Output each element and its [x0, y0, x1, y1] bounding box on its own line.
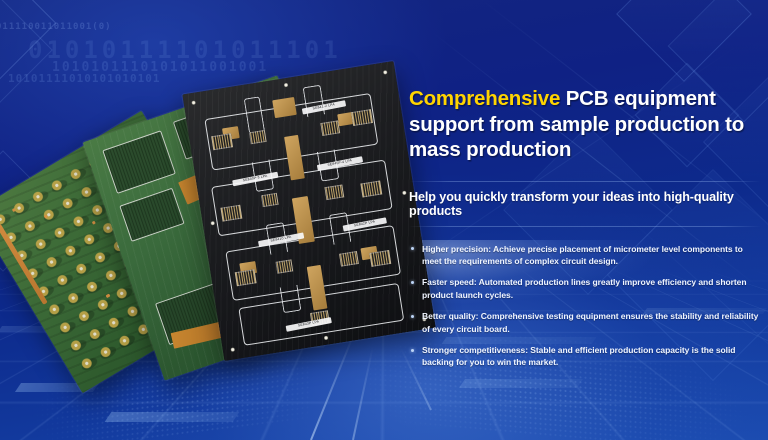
module-outline [119, 188, 184, 242]
list-item: Stronger competitiveness: Stable and eff… [409, 344, 761, 369]
light-bar [105, 412, 240, 422]
integrated-circuit [249, 130, 267, 144]
pcb-board-black-front: SE841-2 LPA SE840P-3 LPA SE845P-4 LPA SE… [182, 61, 436, 361]
copper-pad [272, 97, 297, 118]
diamond-shape-icon [616, 0, 752, 82]
module-outline [102, 130, 176, 194]
integrated-circuit [339, 251, 359, 267]
page-title: Comprehensive PCB equipment support from… [409, 86, 761, 163]
integrated-circuit [320, 120, 340, 136]
via-hole [324, 336, 329, 341]
via-hole [284, 83, 289, 88]
integrated-circuit [276, 259, 294, 273]
list-item: Higher precision: Achieve precise placem… [409, 243, 761, 268]
benefits-list: Higher precision: Achieve precise placem… [409, 243, 761, 369]
integrated-circuit [261, 193, 279, 207]
via-hole [402, 191, 407, 196]
copy-block: Comprehensive PCB equipment support from… [409, 86, 761, 378]
integrated-circuit [324, 184, 344, 200]
subheadline: Help you quickly transform your ideas in… [409, 182, 761, 226]
binary-text-line-1: 011110011011001(0) [0, 22, 112, 32]
via-hole [383, 70, 388, 75]
divider-bottom [409, 226, 761, 227]
light-bar [459, 379, 583, 388]
via-hole [210, 221, 215, 226]
via-hole [230, 347, 235, 352]
rf-trace-outline [280, 285, 302, 313]
via-hole [191, 100, 196, 105]
list-item: Better quality: Comprehensive testing eq… [409, 310, 761, 335]
list-item: Faster speed: Automated production lines… [409, 276, 761, 301]
promo-banner: 011110011011001(0) 01010111101011101 101… [0, 0, 768, 440]
headline-highlight: Comprehensive [409, 87, 560, 110]
pcb-board-group: SE841-2 LPA SE840P-3 LPA SE845P-4 LPA SE… [6, 58, 406, 368]
